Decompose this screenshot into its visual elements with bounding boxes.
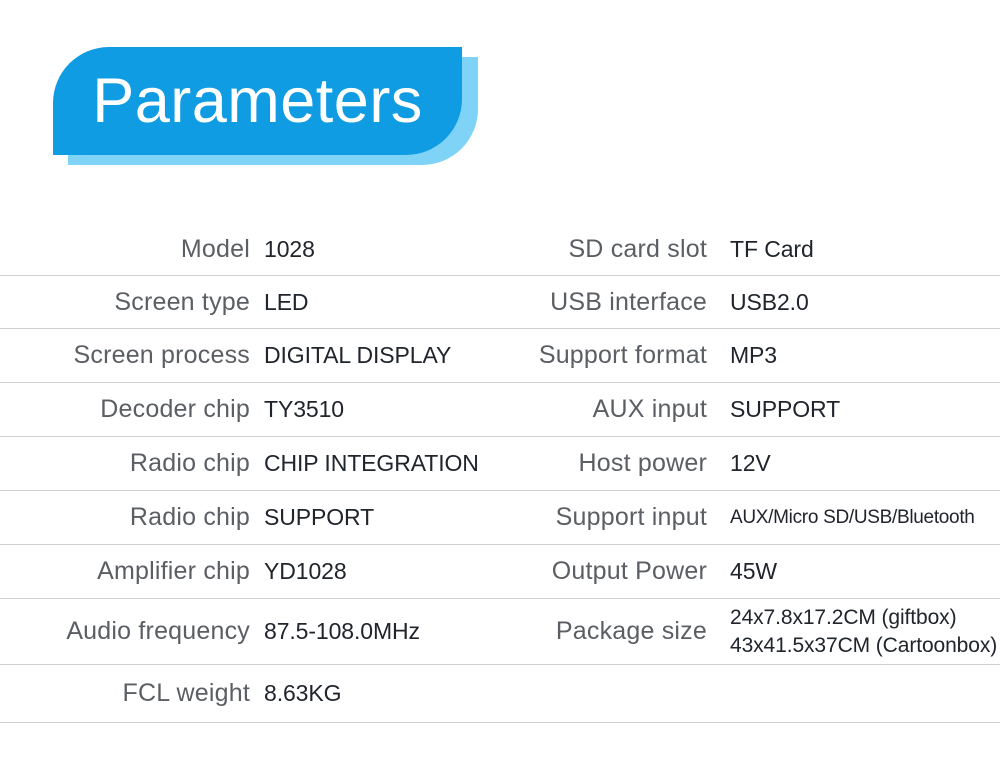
parameters-banner: Parameters (0, 0, 1000, 200)
table-row: FCL weight 8.63KG (0, 665, 1000, 723)
spec-label-usb-interface: USB interface (455, 276, 707, 328)
package-size-line-1: 24x7.8x17.2CM (giftbox) (730, 604, 956, 632)
spec-label-aux-input: AUX input (455, 383, 707, 436)
spec-label-package-size: Package size (455, 599, 707, 664)
spec-value-usb-interface: USB2.0 (730, 276, 998, 328)
spec-label-screen-type: Screen type (0, 276, 250, 328)
table-row: Amplifier chip YD1028 Output Power 45W (0, 545, 1000, 599)
spec-label-host-power: Host power (455, 437, 707, 490)
specifications-table: Model 1028 SD card slot TF Card Screen t… (0, 224, 1000, 723)
spec-label-fcl-weight: FCL weight (0, 665, 250, 722)
table-row: Radio chip SUPPORT Support input AUX/Mic… (0, 491, 1000, 545)
table-row: Screen type LED USB interface USB2.0 (0, 276, 1000, 329)
table-row: Radio chip CHIP INTEGRATION Host power 1… (0, 437, 1000, 491)
spec-label-radio-chip-1: Radio chip (0, 437, 250, 490)
spec-value-support-format: MP3 (730, 329, 998, 382)
spec-value-output-power: 45W (730, 545, 998, 598)
spec-label-support-format: Support format (455, 329, 707, 382)
spec-label-screen-process: Screen process (0, 329, 250, 382)
spec-value-sd-card-slot: TF Card (730, 224, 998, 275)
table-row: Audio frequency 87.5-108.0MHz Package si… (0, 599, 1000, 665)
spec-label-audio-frequency: Audio frequency (0, 599, 250, 664)
spec-label-support-input: Support input (455, 491, 707, 544)
spec-value-aux-input: SUPPORT (730, 383, 998, 436)
table-row: Model 1028 SD card slot TF Card (0, 224, 1000, 276)
package-size-line-2: 43x41.5x37CM (Cartoonbox) (730, 632, 997, 660)
spec-label-sd-card-slot: SD card slot (455, 224, 707, 275)
spec-value-support-input: AUX/Micro SD/USB/Bluetooth (730, 491, 998, 544)
table-row: Decoder chip TY3510 AUX input SUPPORT (0, 383, 1000, 437)
spec-value-package-size: 24x7.8x17.2CM (giftbox) 43x41.5x37CM (Ca… (730, 599, 998, 664)
spec-value-fcl-weight: 8.63KG (264, 665, 494, 722)
spec-label-model: Model (0, 224, 250, 275)
spec-label-decoder-chip: Decoder chip (0, 383, 250, 436)
spec-label-output-power: Output Power (455, 545, 707, 598)
page-title: Parameters (53, 47, 462, 155)
spec-label-radio-chip-2: Radio chip (0, 491, 250, 544)
spec-label-amplifier-chip: Amplifier chip (0, 545, 250, 598)
table-row: Screen process DIGITAL DISPLAY Support f… (0, 329, 1000, 383)
spec-value-host-power: 12V (730, 437, 998, 490)
